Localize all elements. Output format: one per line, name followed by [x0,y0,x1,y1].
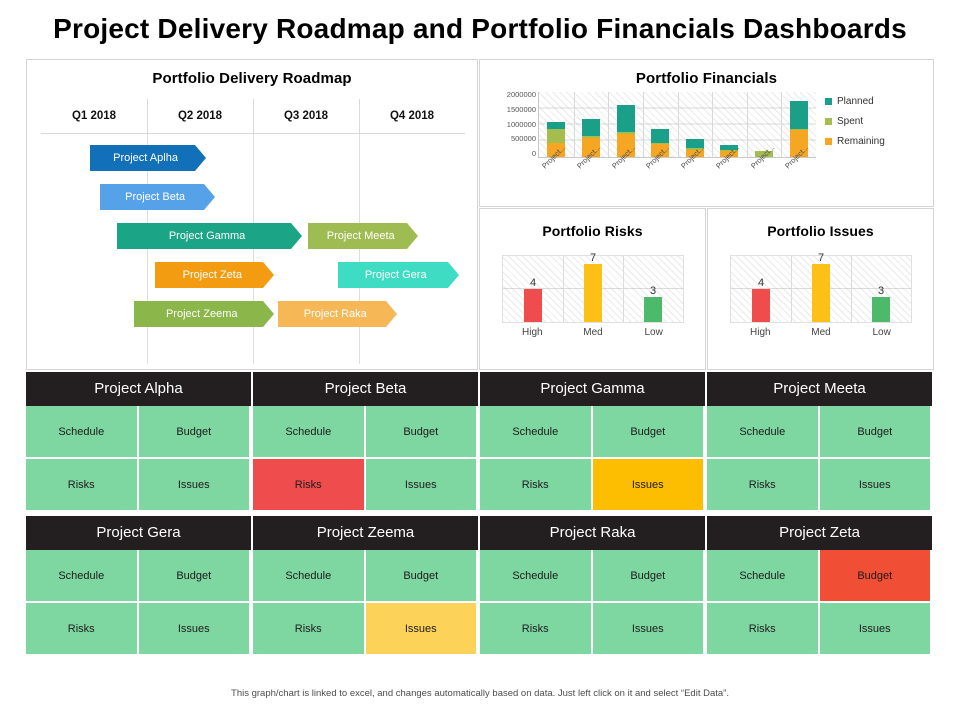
financials-ytick: 0 [484,149,536,158]
financials-ytick: 1000000 [484,120,536,129]
legend-label: Remaining [837,136,885,147]
risks-bar-group-low[interactable]: 3 [623,256,683,322]
roadmap-bar-arrowhead [448,262,459,288]
status-card-cells: ScheduleBudgetRisksIssues [253,550,480,656]
roadmap-bar-body: Project Aplha [90,145,196,171]
risks-bar-group-med[interactable]: 7 [563,256,623,322]
roadmap-quarter-2: Q2 2018 [147,101,253,131]
status-card-project-meeta: Project MeetaScheduleBudgetRisksIssues [707,372,934,512]
roadmap-body: Q1 2018Q2 2018Q3 2018Q4 2018 Project Apl… [27,93,477,370]
status-cell-issues[interactable]: Issues [593,603,706,656]
roadmap-bar-body: Project Meeta [308,223,407,249]
portfolio-risks-panel: Portfolio Risks 473 HighMedLow [479,208,706,370]
status-grid-row: Project GeraScheduleBudgetRisksIssuesPro… [26,516,934,656]
risks-xtick-high: High [502,327,563,338]
status-cell-risks[interactable]: Risks [707,603,820,656]
roadmap-gridline-3 [359,134,360,364]
legend-swatch-icon [825,118,832,125]
financials-segment-planned [790,101,808,129]
status-card-title: Project Alpha [26,372,253,406]
roadmap-bar-project-raka[interactable]: Project Raka [278,301,397,327]
legend-swatch-icon [825,138,832,145]
status-card-project-beta: Project BetaScheduleBudgetRisksIssues [253,372,480,512]
financials-legend-item[interactable]: Spent [825,116,930,127]
roadmap-bar-project-gamma[interactable]: Project Gamma [117,223,301,249]
roadmap-bar-body: Project Raka [278,301,386,327]
status-cell-schedule[interactable]: Schedule [253,406,366,459]
portfolio-issues-panel: Portfolio Issues 473 HighMedLow [707,208,934,370]
status-card-title: Project Zeta [707,516,934,550]
status-cell-risks[interactable]: Risks [480,603,593,656]
status-card-cells: ScheduleBudgetRisksIssues [707,550,934,656]
roadmap-bar-project-zeta[interactable]: Project Zeta [155,262,274,288]
dashboard-page: Project Delivery Roadmap and Portfolio F… [0,0,960,720]
status-card-project-zeema: Project ZeemaScheduleBudgetRisksIssues [253,516,480,656]
status-cell-risks[interactable]: Risks [480,459,593,512]
status-card-title: Project Gamma [480,372,707,406]
financials-xtick: Project... [712,160,747,204]
financials-segment-planned [547,122,565,129]
risks-title: Portfolio Risks [480,209,705,239]
status-card-cells: ScheduleBudgetRisksIssues [26,406,253,512]
roadmap-bar-project-zeema[interactable]: Project Zeema [134,301,274,327]
risks-plot-area: 473 [502,255,684,323]
status-card-project-alpha: Project AlphaScheduleBudgetRisksIssues [26,372,253,512]
roadmap-bar-body: Project Gera [338,262,448,288]
financials-legend-item[interactable]: Remaining [825,136,930,147]
status-card-project-gamma: Project GammaScheduleBudgetRisksIssues [480,372,707,512]
risks-data-label-low: 3 [623,285,683,297]
financials-ytick: 2000000 [484,90,536,99]
portfolio-delivery-roadmap-panel: Portfolio Delivery Roadmap Q1 2018Q2 201… [26,59,478,370]
roadmap-bar-arrowhead [263,301,274,327]
financials-xtick: Project... [781,160,816,204]
roadmap-bar-project-meeta[interactable]: Project Meeta [308,223,418,249]
status-cell-budget[interactable]: Budget [366,406,479,459]
roadmap-bar-body: Project Gamma [117,223,290,249]
issues-data-label-low: 3 [851,285,911,297]
page-title: Project Delivery Roadmap and Portfolio F… [0,8,960,50]
issues-data-label-high: 4 [731,277,791,289]
roadmap-bar-label: Project Gamma [123,223,290,249]
status-cell-budget[interactable]: Budget [593,550,706,603]
status-cell-budget[interactable]: Budget [820,406,933,459]
status-cell-risks[interactable]: Risks [253,603,366,656]
status-cell-issues[interactable]: Issues [139,603,252,656]
roadmap-bar-arrowhead [386,301,397,327]
financials-segment-spent [547,129,565,143]
financials-legend: PlannedSpentRemaining [825,96,930,156]
roadmap-quarter-1: Q1 2018 [41,101,147,131]
roadmap-bar-project-gera[interactable]: Project Gera [338,262,459,288]
financials-xtick: Project... [642,160,677,204]
issues-xtick-high: High [730,327,791,338]
issues-data-label-med: 7 [791,252,851,264]
roadmap-bar-label: Project Beta [106,184,203,210]
risks-bar-low [644,297,662,322]
roadmap-bar-arrowhead [407,223,418,249]
financials-ytick: 500000 [484,134,536,143]
risks-xtick-med: Med [563,327,624,338]
roadmap-quarter-header: Q1 2018Q2 2018Q3 2018Q4 2018 [41,101,465,131]
financials-xtick: Project... [608,160,643,204]
issues-bar-med [812,264,830,322]
status-cell-budget[interactable]: Budget [139,550,252,603]
financials-x-axis-labels: Project...Project...Project...Project...… [538,160,816,204]
status-cell-risks[interactable]: Risks [26,459,139,512]
roadmap-bar-arrowhead [195,145,206,171]
financials-title: Portfolio Financials [480,60,933,87]
issues-xtick-med: Med [791,327,852,338]
status-cell-budget[interactable]: Budget [593,406,706,459]
roadmap-bar-label: Project Zeema [140,301,263,327]
roadmap-bar-arrowhead [204,184,215,210]
roadmap-bar-label: Project Meeta [314,223,407,249]
status-cell-schedule[interactable]: Schedule [26,406,139,459]
financials-segment-planned [582,119,600,136]
roadmap-bar-body: Project Beta [100,184,203,210]
roadmap-bar-label: Project Zeta [161,262,263,288]
risks-x-axis-labels: HighMedLow [502,327,684,338]
legend-label: Planned [837,96,874,107]
financials-xtick: Project... [538,160,573,204]
status-card-cells: ScheduleBudgetRisksIssues [253,406,480,512]
status-cell-schedule[interactable]: Schedule [480,406,593,459]
status-cell-schedule[interactable]: Schedule [26,550,139,603]
issues-bar-group-med[interactable]: 7 [791,256,851,322]
status-cell-budget[interactable]: Budget [366,550,479,603]
status-card-title: Project Zeema [253,516,480,550]
status-card-cells: ScheduleBudgetRisksIssues [480,406,707,512]
roadmap-bar-arrowhead [291,223,302,249]
financials-y-axis-labels: 2000000150000010000005000000 [484,90,536,158]
status-card-title: Project Beta [253,372,480,406]
roadmap-bar-label: Project Raka [284,301,386,327]
status-cell-schedule[interactable]: Schedule [480,550,593,603]
status-card-cells: ScheduleBudgetRisksIssues [480,550,707,656]
issues-bar-low [872,297,890,322]
roadmap-bar-label: Project Aplha [96,145,196,171]
issues-title: Portfolio Issues [708,209,933,239]
financials-segment-planned [651,129,669,143]
status-cell-schedule[interactable]: Schedule [707,406,820,459]
financials-segment-planned [617,105,635,132]
status-cell-schedule[interactable]: Schedule [253,550,366,603]
status-cell-budget[interactable]: Budget [820,550,933,603]
status-card-cells: ScheduleBudgetRisksIssues [26,550,253,656]
issues-chart: 473 HighMedLow [708,249,933,367]
portfolio-financials-panel: Portfolio Financials 2000000150000010000… [479,59,934,207]
financials-xtick: Project... [747,160,782,204]
status-cell-issues[interactable]: Issues [139,459,252,512]
status-cell-budget[interactable]: Budget [139,406,252,459]
risks-bar-high [524,289,542,322]
financials-xtick: Project... [677,160,712,204]
roadmap-bar-label: Project Gera [344,262,448,288]
roadmap-bar-arrowhead [263,262,274,288]
roadmap-bar-body: Project Zeta [155,262,263,288]
legend-label: Spent [837,116,863,127]
roadmap-quarter-4: Q4 2018 [359,101,465,131]
status-cell-issues[interactable]: Issues [366,603,479,656]
status-card-title: Project Raka [480,516,707,550]
status-card-project-zeta: Project ZetaScheduleBudgetRisksIssues [707,516,934,656]
roadmap-lanes: Project AplhaProject BetaProject GammaPr… [41,134,465,364]
financials-chart: 2000000150000010000005000000 Project...P… [480,90,933,206]
status-card-project-raka: Project RakaScheduleBudgetRisksIssues [480,516,707,656]
status-card-cells: ScheduleBudgetRisksIssues [707,406,934,512]
roadmap-gridline-2 [253,134,254,364]
status-cell-risks[interactable]: Risks [253,459,366,512]
roadmap-quarter-3: Q3 2018 [253,101,359,131]
status-card-project-gera: Project GeraScheduleBudgetRisksIssues [26,516,253,656]
roadmap-bar-body: Project Zeema [134,301,263,327]
legend-swatch-icon [825,98,832,105]
status-card-title: Project Gera [26,516,253,550]
financials-xtick: Project... [573,160,608,204]
status-cell-issues[interactable]: Issues [820,459,933,512]
risks-data-label-med: 7 [563,252,623,264]
risks-bar-med [584,264,602,322]
risks-xtick-low: Low [623,327,684,338]
roadmap-title: Portfolio Delivery Roadmap [27,60,477,87]
issues-plot-area: 473 [730,255,912,323]
financials-legend-item[interactable]: Planned [825,96,930,107]
status-cell-risks[interactable]: Risks [707,459,820,512]
issues-x-axis-labels: HighMedLow [730,327,912,338]
status-cell-issues[interactable]: Issues [593,459,706,512]
status-grid-row: Project AlphaScheduleBudgetRisksIssuesPr… [26,372,934,512]
issues-bar-high [752,289,770,322]
status-cell-issues[interactable]: Issues [820,603,933,656]
roadmap-bar-project-beta[interactable]: Project Beta [100,184,214,210]
status-cell-issues[interactable]: Issues [366,459,479,512]
status-card-title: Project Meeta [707,372,934,406]
issues-bar-group-low[interactable]: 3 [851,256,911,322]
status-cell-schedule[interactable]: Schedule [707,550,820,603]
footer-note: This graph/chart is linked to excel, and… [0,688,960,699]
project-status-grid: Project AlphaScheduleBudgetRisksIssuesPr… [26,372,934,656]
risks-chart: 473 HighMedLow [480,249,705,367]
issues-xtick-low: Low [851,327,912,338]
risks-data-label-high: 4 [503,277,563,289]
risks-bar-group-high[interactable]: 4 [503,256,563,322]
financials-ytick: 1500000 [484,105,536,114]
status-cell-risks[interactable]: Risks [26,603,139,656]
roadmap-bar-project-aplha[interactable]: Project Aplha [90,145,207,171]
issues-bar-group-high[interactable]: 4 [731,256,791,322]
